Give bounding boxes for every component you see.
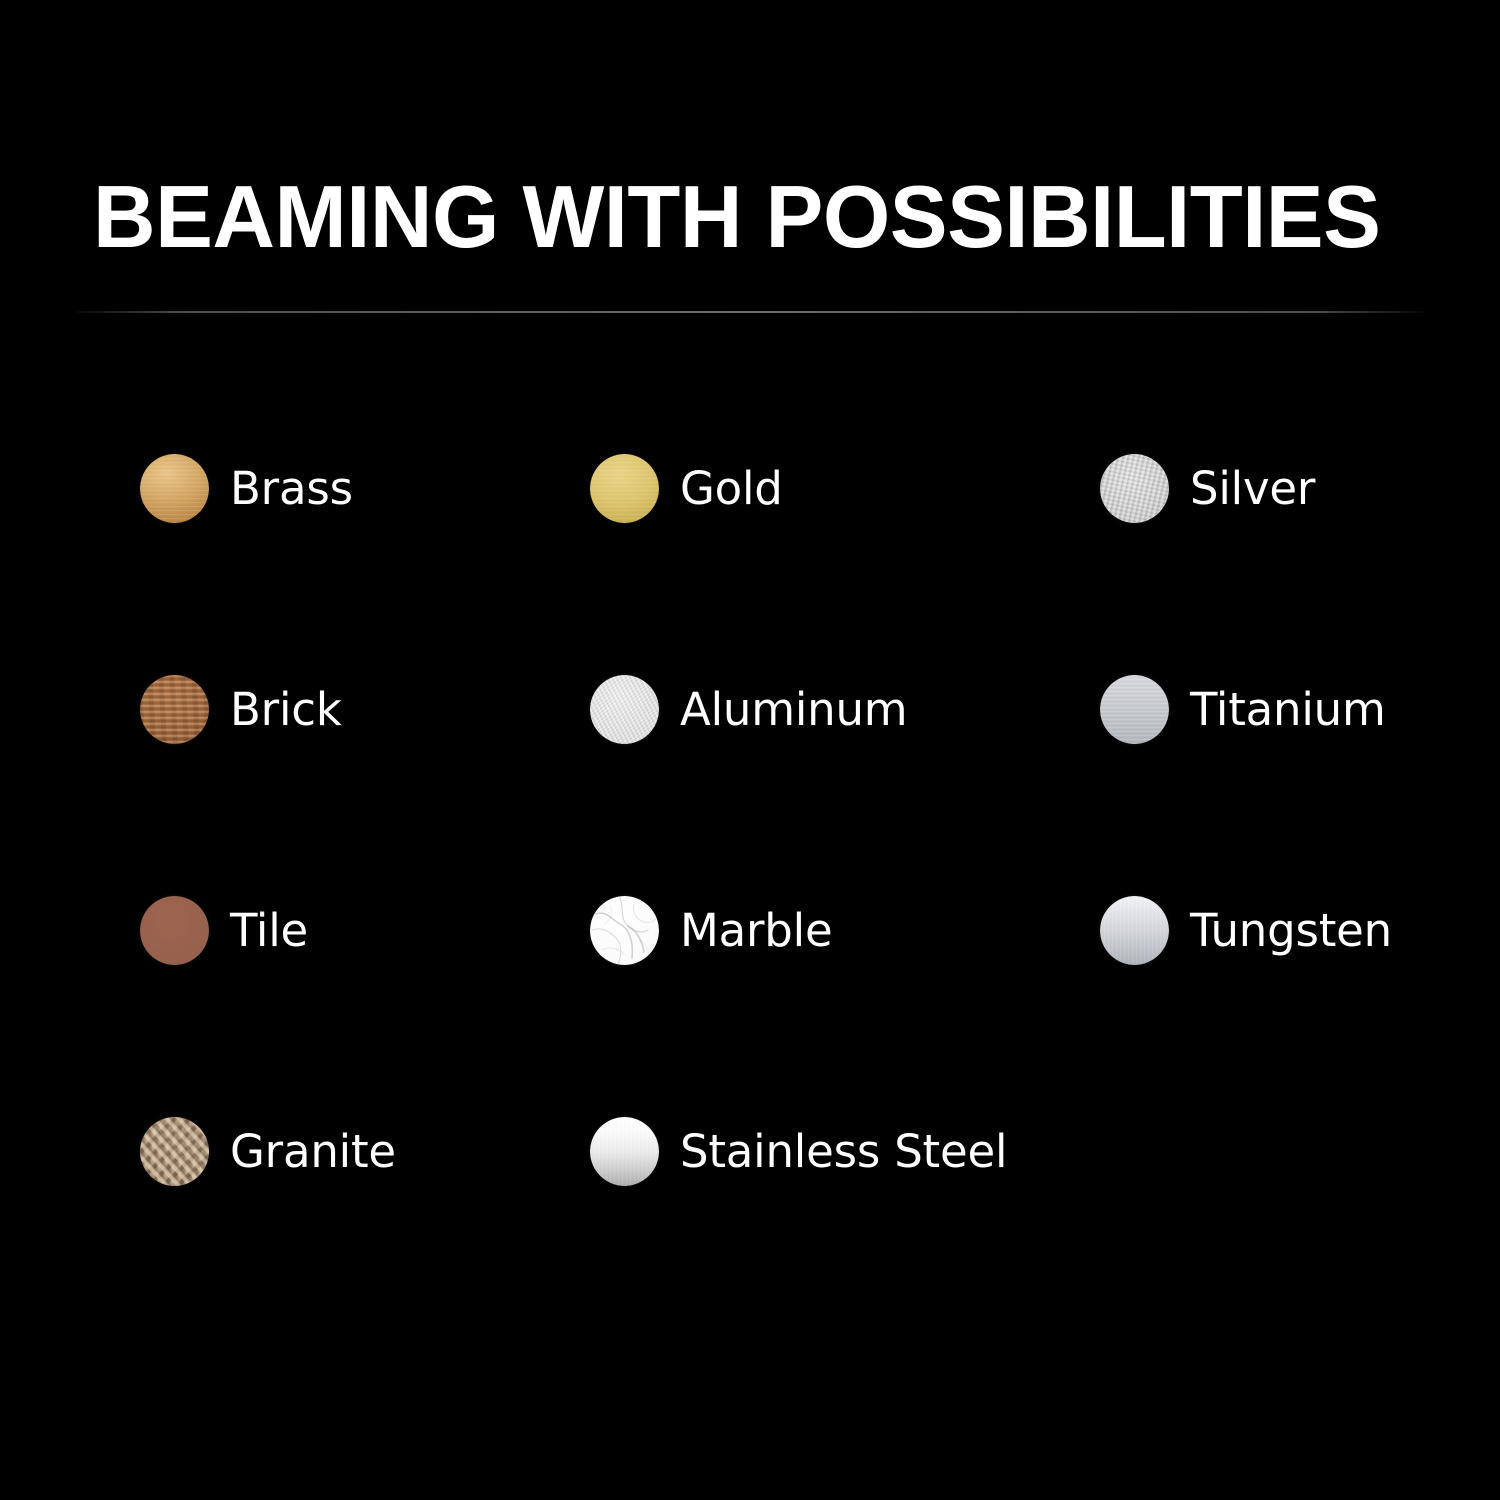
swatch-texture [590,454,659,523]
material-label: Brass [230,454,353,523]
material-swatch-page: BEAMING WITH POSSIBILITIES Brass Gold [0,0,1500,1500]
material-item-brass[interactable]: Brass [140,454,353,523]
material-label: Granite [230,1117,396,1186]
material-label: Tile [230,896,308,965]
swatch-texture [140,675,209,744]
material-item-gold[interactable]: Gold [590,454,783,523]
material-grid: Brass Gold Silver [140,454,1440,1338]
swatch-texture [140,1117,209,1186]
tile-swatch-icon [140,896,209,965]
tungsten-swatch-icon [1100,896,1169,965]
brass-swatch-icon [140,454,209,523]
swatch-texture [590,675,659,744]
swatch-texture [140,896,209,965]
brick-swatch-icon [140,675,209,744]
granite-swatch-icon [140,1117,209,1186]
material-row: Tile [140,896,1440,1117]
swatch-texture [1100,896,1169,965]
material-label: Marble [680,896,832,965]
material-label: Stainless Steel [680,1117,1007,1186]
material-item-silver[interactable]: Silver [1100,454,1315,523]
material-item-titanium[interactable]: Titanium [1100,675,1386,744]
silver-swatch-icon [1100,454,1169,523]
material-label: Tungsten [1190,896,1392,965]
swatch-texture [140,454,209,523]
material-item-stainless-steel[interactable]: Stainless Steel [590,1117,1007,1186]
stainless-swatch-icon [590,1117,659,1186]
header-divider [75,311,1425,313]
material-label: Silver [1190,454,1315,523]
material-label: Aluminum [680,675,907,744]
material-item-marble[interactable]: Marble [590,896,832,965]
marble-vein-pattern [590,896,659,965]
marble-swatch-icon [590,896,659,965]
material-row: Brick Aluminum Titanium [140,675,1440,896]
material-item-tile[interactable]: Tile [140,896,308,965]
page-title: BEAMING WITH POSSIBILITIES [93,169,1413,265]
swatch-texture [1100,675,1169,744]
titanium-swatch-icon [1100,675,1169,744]
gold-swatch-icon [590,454,659,523]
material-item-brick[interactable]: Brick [140,675,342,744]
material-label: Brick [230,675,342,744]
material-label: Titanium [1190,675,1386,744]
swatch-texture [1100,454,1169,523]
material-item-tungsten[interactable]: Tungsten [1100,896,1392,965]
material-item-aluminum[interactable]: Aluminum [590,675,907,744]
material-label: Gold [680,454,783,523]
material-row: Granite Stainless Steel [140,1117,1440,1338]
material-row: Brass Gold Silver [140,454,1440,675]
material-item-granite[interactable]: Granite [140,1117,396,1186]
aluminum-swatch-icon [590,675,659,744]
swatch-texture [590,1117,659,1186]
